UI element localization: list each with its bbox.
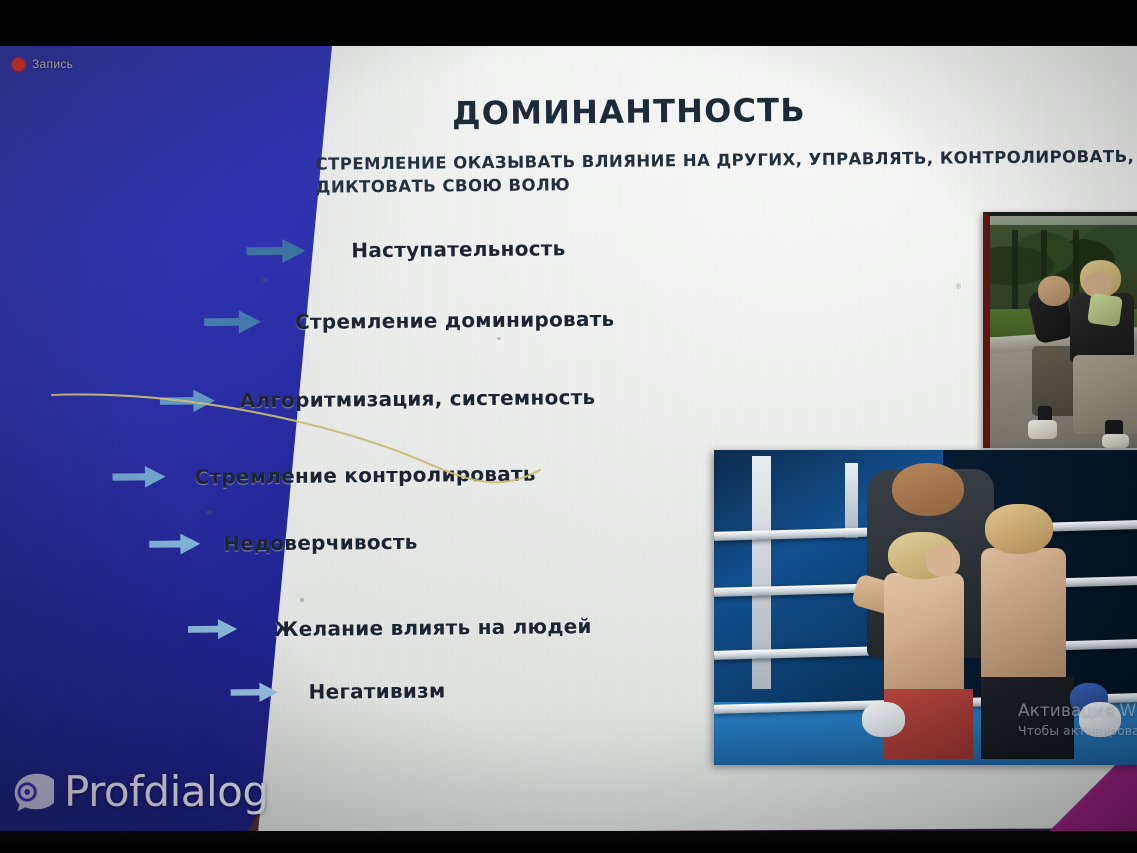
arrow-right-icon <box>204 307 262 337</box>
brand-name: Profdialog <box>64 771 269 813</box>
arrow-right-icon <box>160 387 216 416</box>
list-item-label: Негативизм <box>308 678 445 703</box>
photo-scene <box>990 216 1137 448</box>
list-item-label: Алгоритмизация, системность <box>240 385 596 412</box>
monitor-bezel-top <box>0 0 1137 46</box>
arrow-right-icon <box>112 463 166 491</box>
profdialog-logo: Profdialog <box>8 769 269 815</box>
dust-speck <box>497 337 501 340</box>
list-item-label: Наступательность <box>351 236 565 262</box>
list-item: Недоверчивость <box>149 529 418 558</box>
monitor-bezel-bottom <box>0 831 1137 853</box>
arrow-right-icon <box>230 680 278 704</box>
list-item-label: Желание влиять на людей <box>274 614 592 641</box>
list-item-label: Недоверчивость <box>223 530 418 556</box>
list-item: Алгоритмизация, системность <box>160 383 596 415</box>
watermark-line-1: Активация Windows <box>1018 700 1137 723</box>
windows-activation-watermark: Активация Windows Чтобы активировать <box>1018 700 1137 740</box>
recording-indicator[interactable]: Запись <box>12 57 73 71</box>
screen-photo: Запись ДОМИНАНТНОСТЬ СТРЕМЛЕНИЕ ОКАЗЫВАТ… <box>0 0 1137 853</box>
speech-head-icon <box>8 769 54 815</box>
watermark-line-2: Чтобы активировать <box>1018 723 1137 740</box>
dust-speck <box>956 283 961 289</box>
dust-speck <box>262 278 267 282</box>
list-item: Стремление контролировать <box>112 460 535 491</box>
list-item: Наступательность <box>246 233 565 266</box>
arrow-right-icon <box>188 616 238 641</box>
list-item: Негативизм <box>230 678 445 704</box>
dust-speck <box>206 510 212 515</box>
list-item: Стремление доминировать <box>204 304 615 337</box>
list-item: Желание влиять на людей <box>188 613 592 642</box>
list-item-label: Стремление доминировать <box>295 306 615 333</box>
list-item-label: Стремление контролировать <box>194 461 535 488</box>
record-dot-icon <box>12 58 25 71</box>
boys-sitting-outdoors-photo <box>983 212 1137 448</box>
arrow-right-icon <box>149 531 201 557</box>
dust-speck <box>300 598 304 602</box>
arrow-right-icon <box>246 236 306 267</box>
recording-label: Запись <box>32 57 73 71</box>
